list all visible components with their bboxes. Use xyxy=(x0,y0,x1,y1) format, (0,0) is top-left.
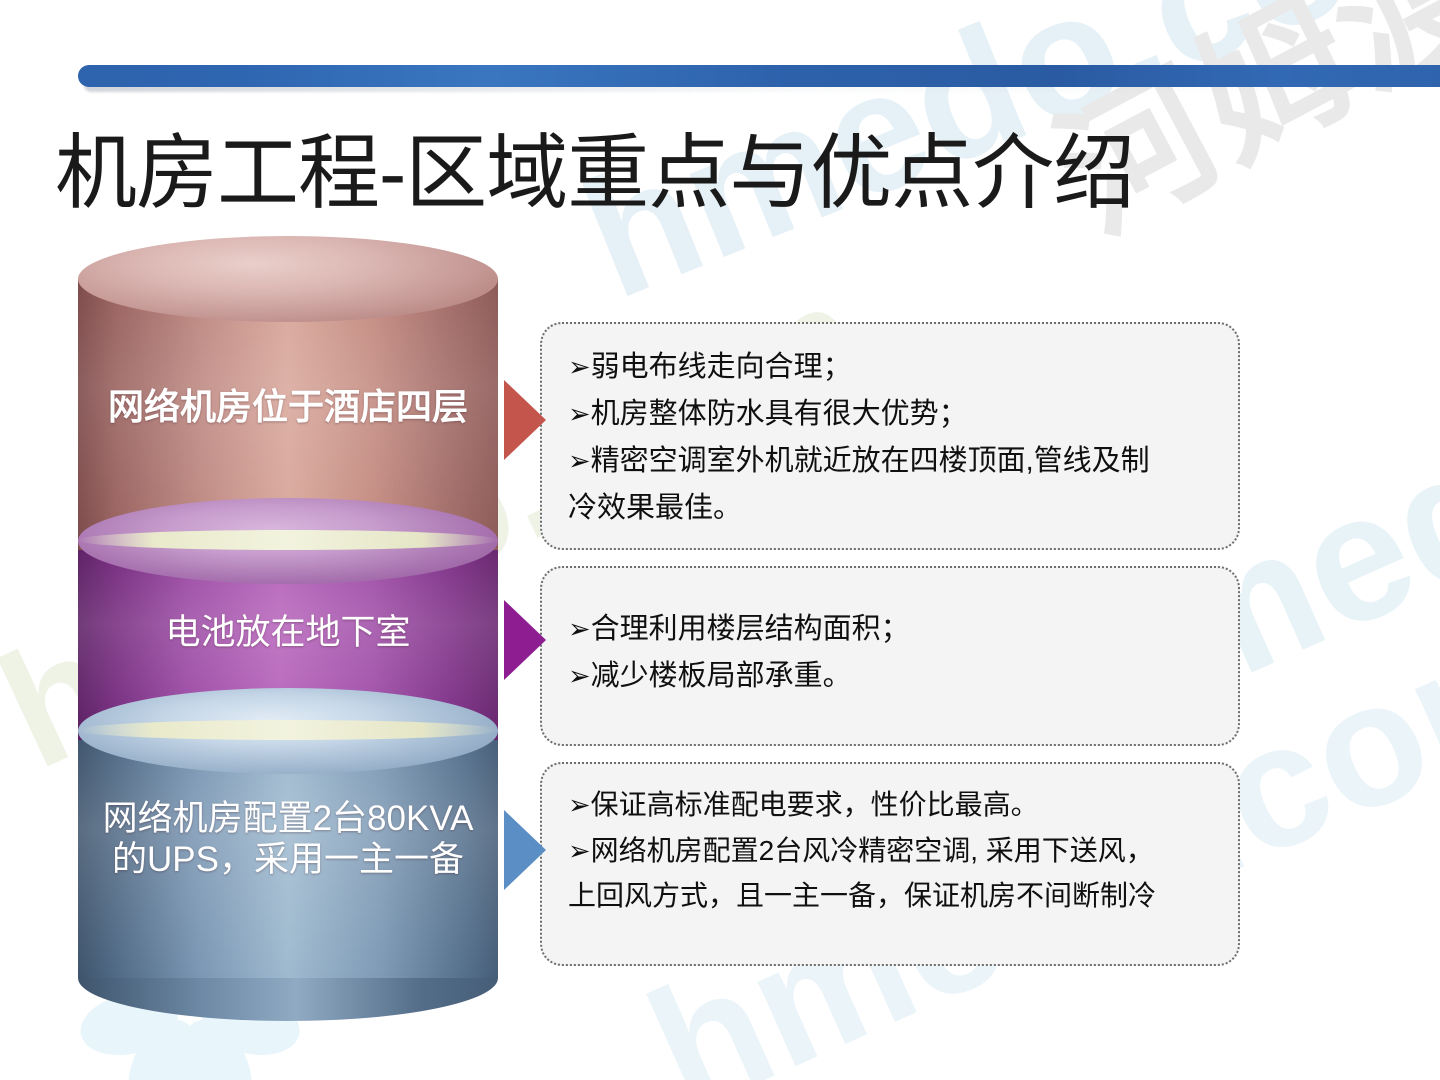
bullet-arrow-icon: ➢ xyxy=(568,446,591,476)
callout-text-block: ➢合理利用楼层结构面积； ➢减少楼板局部承重。 xyxy=(542,568,1238,710)
callout-line-text: 弱电布线走向合理； xyxy=(591,351,852,383)
callout-text-block: ➢弱电布线走向合理； ➢机房整体防水具有很大优势； ➢精密空调室外机就近放在四楼… xyxy=(542,324,1238,542)
cylinder-ups-config[interactable]: 网络机房配置2台80KVA的UPS，采用一主一备 xyxy=(78,730,498,978)
bullet-arrow-icon: ➢ xyxy=(568,661,591,691)
cylinder-label-network-room-floor: 网络机房位于酒店四层 xyxy=(78,386,498,428)
callout-line: ➢机房整体防水具有很大优势； xyxy=(568,391,1216,438)
callout-line-text: 保证高标准配电要求，性价比最高。 xyxy=(591,789,1039,820)
callout-line-text: 精密空调室外机就近放在四楼顶面,管线及制 xyxy=(591,445,1150,477)
bullet-arrow-icon: ➢ xyxy=(568,399,591,429)
callout-ups[interactable]: ➢保证高标准配电要求，性价比最高。 ➢网络机房配置2台风冷精密空调, 采用下送风… xyxy=(540,762,1240,966)
slide-canvas: hmedo.com 河姆渡 hmedo.com hmedo.com hmedo.… xyxy=(0,0,1440,1080)
bullet-arrow-icon: ➢ xyxy=(568,614,591,644)
callout-battery[interactable]: ➢合理利用楼层结构面积； ➢减少楼板局部承重。 xyxy=(540,566,1240,746)
bullet-arrow-icon: ➢ xyxy=(568,790,591,820)
header-accent-bar xyxy=(78,65,1440,87)
cylinder-label-battery-basement: 电池放在地下室 xyxy=(78,612,498,653)
callout-line: ➢保证高标准配电要求，性价比最高。 xyxy=(568,782,1216,828)
callout-network-room[interactable]: ➢弱电布线走向合理； ➢机房整体防水具有很大优势； ➢精密空调室外机就近放在四楼… xyxy=(540,322,1240,550)
callout-line-text: 冷效果最佳。 xyxy=(568,492,742,524)
callout-arrow-red-icon xyxy=(504,380,546,460)
cylinder-rim-upper xyxy=(78,530,498,550)
bullet-arrow-icon: ➢ xyxy=(568,836,591,866)
callout-line: ➢网络机房配置2台风冷精密空调, 采用下送风， xyxy=(568,828,1216,874)
callout-line: ➢减少楼板局部承重。 xyxy=(568,653,1216,700)
callout-line: ➢精密空调室外机就近放在四楼顶面,管线及制 xyxy=(568,438,1216,485)
callout-arrow-blue-icon xyxy=(504,810,546,890)
cylinder-rim-lower xyxy=(78,720,498,740)
callout-line-text: 上回风方式，且一主一备，保证机房不间断制冷 xyxy=(568,880,1156,911)
page-title: 机房工程-区域重点与优点介绍 xyxy=(55,128,1134,220)
callout-line: 冷效果最佳。 xyxy=(568,485,1216,532)
bullet-arrow-icon: ➢ xyxy=(568,352,591,382)
callout-line-text: 机房整体防水具有很大优势； xyxy=(591,398,968,430)
callout-line-text: 合理利用楼层结构面积； xyxy=(591,613,910,645)
cylinder-top-ellipse xyxy=(78,236,498,322)
callout-line-text: 网络机房配置2台风冷精密空调, 采用下送风， xyxy=(591,835,1154,866)
cylinder-label-ups-config: 网络机房配置2台80KVA的UPS，采用一主一备 xyxy=(78,798,498,881)
callout-arrow-purple-icon xyxy=(504,600,546,680)
accent-bar-fill xyxy=(78,65,1440,87)
cylinder-stack: 网络机房配置2台80KVA的UPS，采用一主一备 电池放在地下室 网络机房位于酒… xyxy=(78,278,498,978)
callout-line: 上回风方式，且一主一备，保证机房不间断制冷 xyxy=(568,873,1216,918)
callout-line-text: 减少楼板局部承重。 xyxy=(591,660,852,692)
callout-line: ➢合理利用楼层结构面积； xyxy=(568,606,1216,653)
callout-line: ➢弱电布线走向合理； xyxy=(568,344,1216,391)
callout-text-block: ➢保证高标准配电要求，性价比最高。 ➢网络机房配置2台风冷精密空调, 采用下送风… xyxy=(542,764,1238,929)
